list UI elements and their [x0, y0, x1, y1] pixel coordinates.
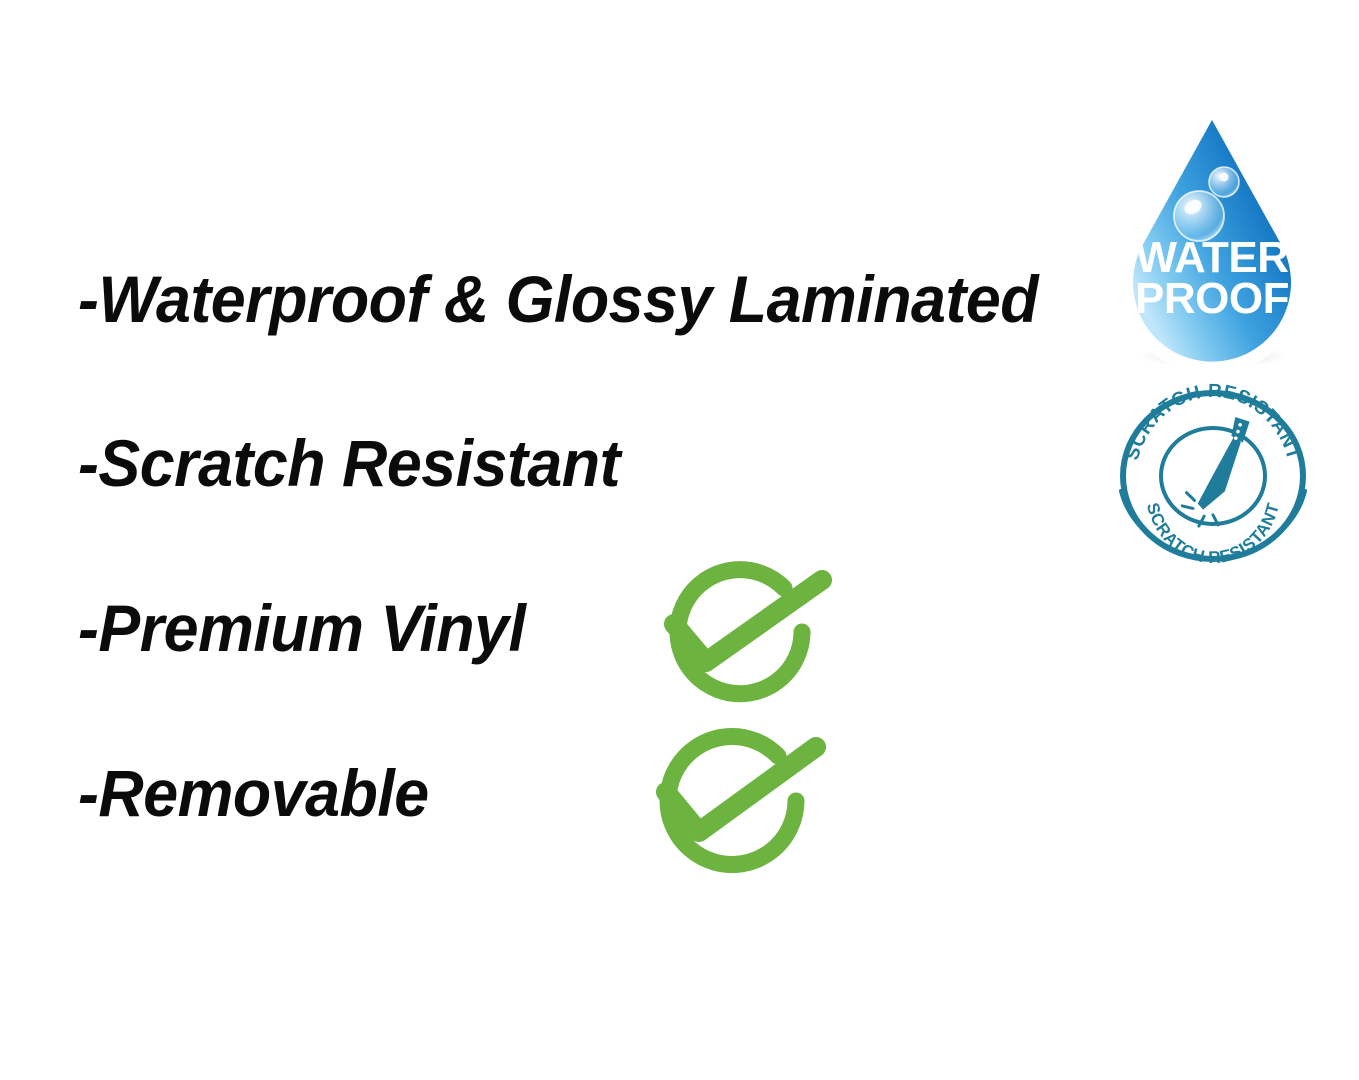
- knife-blade: [1196, 431, 1242, 514]
- waterproof-badge: WATER PROOF: [1104, 104, 1320, 370]
- feature-item-premium-vinyl: -Premium Vinyl: [78, 595, 525, 661]
- feature-item-scratch-resistant: -Scratch Resistant: [78, 430, 620, 496]
- stamp-text-bottom: SCRATCH RESISTANT: [1143, 501, 1283, 568]
- feature-item-removable: -Removable: [78, 760, 429, 826]
- knife-spark-2: [1182, 505, 1193, 509]
- check-premium-vinyl: [636, 556, 846, 716]
- check-circle-icon: [628, 722, 838, 887]
- feature-list-graphic: -Waterproof & Glossy Laminated -Scratch …: [0, 0, 1359, 1080]
- water-droplet-icon: WATER PROOF: [1104, 104, 1320, 370]
- check-removable: [628, 722, 838, 887]
- droplet-bubble-small: [1209, 167, 1239, 197]
- waterproof-label-line2: PROOF: [1135, 274, 1289, 323]
- knife-stamp-icon: SCRATCH RESISTANT SCRATCH RESISTANT: [1113, 383, 1313, 569]
- stamp-text-top: SCRATCH RESISTANT: [1122, 383, 1304, 463]
- check-circle-icon: [636, 556, 846, 716]
- feature-item-waterproof-glossy-laminated: -Waterproof & Glossy Laminated: [78, 266, 1038, 332]
- droplet-bubble-small-highlight: [1220, 173, 1229, 182]
- knife-spark-1: [1185, 493, 1196, 501]
- scratch-resistant-badge: SCRATCH RESISTANT SCRATCH RESISTANT: [1113, 383, 1313, 569]
